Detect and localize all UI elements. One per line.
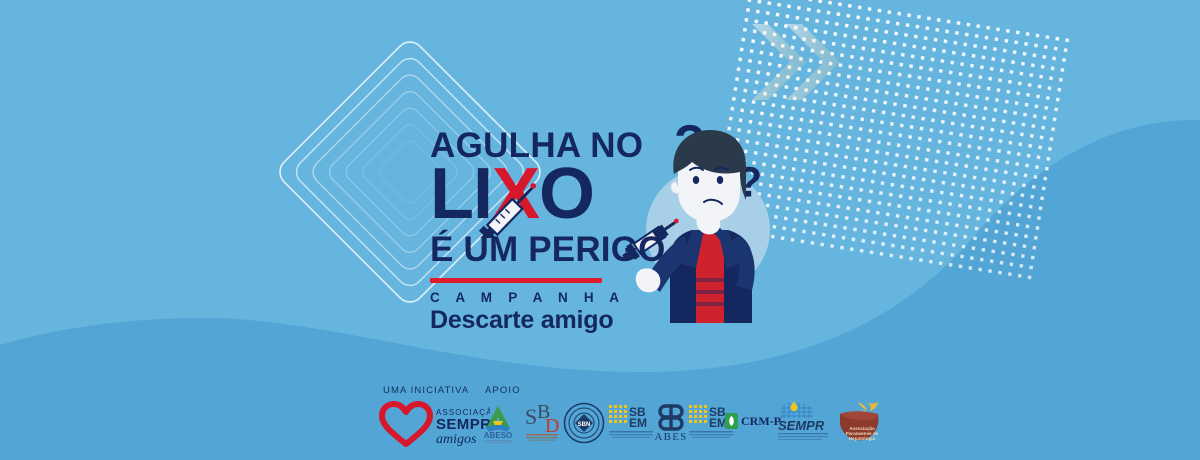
logo-sbd: S B D <box>523 402 563 444</box>
support-label: APOIO <box>485 385 521 396</box>
initiative-label: UMA INICIATIVA <box>383 385 469 396</box>
svg-text:amigos: amigos <box>436 432 477 447</box>
campaign-banner: ? ? ? <box>0 0 1200 460</box>
svg-text:S: S <box>525 404 537 429</box>
svg-text:EM: EM <box>629 416 647 430</box>
svg-text:Hepatologia: Hepatologia <box>849 436 876 441</box>
svg-text:ABES: ABES <box>655 431 688 443</box>
logo-abes: ABES <box>650 403 692 443</box>
headline-line-2-wrap: LIXO <box>430 164 680 230</box>
logo-sempr-amigos: ASSOCIAÇÃO SEMPR amigos <box>378 400 490 448</box>
logo-hepatologia: Associação Paranaense de Hepatologia <box>836 400 884 444</box>
svg-text:ABESO: ABESO <box>484 431 512 440</box>
svg-text:SEMPR: SEMPR <box>778 418 825 433</box>
footer-logos: UMA INICIATIVA APOIO ASSOCIAÇÃO SEMPR am… <box>0 374 1200 460</box>
logo-crm-pr: CRM-PR <box>724 410 782 432</box>
logo-seal: SBN <box>563 402 605 444</box>
svg-text:D: D <box>545 415 559 437</box>
campaign-kicker: C A M P A N H A <box>430 290 680 305</box>
logo-sbem: SB EM <box>608 402 654 442</box>
logo-abeso: ABESO <box>481 404 515 444</box>
svg-text:SBN: SBN <box>578 422 591 428</box>
campaign-name: Descarte amigo <box>430 306 680 335</box>
syringe-crossing-x-icon <box>470 162 590 238</box>
red-divider-bar <box>430 278 602 283</box>
logo-sempr: SEMPR <box>776 400 834 444</box>
headline-block: AGULHA NO LIXO É UM PERIGO C A M P A <box>430 128 680 335</box>
